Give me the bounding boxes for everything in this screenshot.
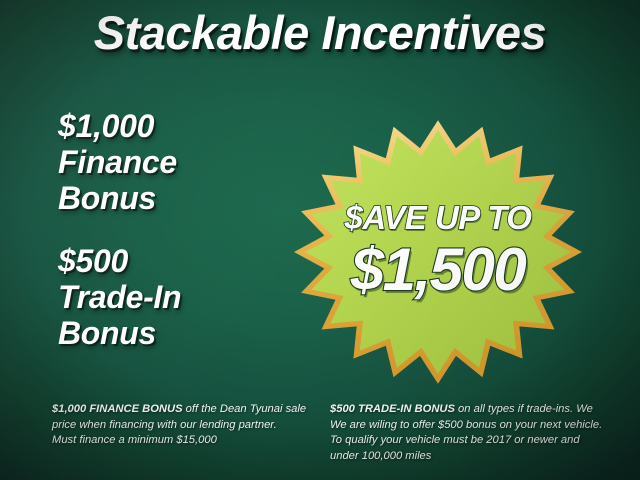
savings-badge: $AVE UP TO $1,500 — [292, 118, 584, 386]
offer-trade-in: $500 Trade-In Bonus — [58, 243, 308, 351]
fine-print-trade-in-line-4: under 100,000 miles — [330, 449, 604, 465]
fine-print-trade-in: $500 TRADE-IN BONUS on all types if trad… — [330, 402, 604, 464]
fine-print-finance-line-2: price when financing with our lending pa… — [52, 418, 308, 434]
offer-list: $1,000 Finance Bonus $500 Trade-In Bonus — [58, 108, 308, 351]
fine-print-trade-in-line-1: on all types if trade-ins. We — [455, 403, 593, 415]
fine-print-finance-line-1: off the Dean Tyunai sale — [183, 403, 307, 415]
fine-print-trade-in-line-2: We are wiling to offer $500 bonus on you… — [330, 418, 604, 434]
offer-trade-in-line2: Trade-In — [58, 279, 308, 315]
offer-finance: $1,000 Finance Bonus — [58, 108, 308, 216]
fine-print-trade-in-line-3: To qualify your vehicle must be 2017 or … — [330, 433, 604, 449]
offer-finance-line2: Finance — [58, 144, 308, 180]
offer-trade-in-amount: $500 — [58, 243, 308, 279]
fine-print: $1,000 FINANCE BONUS off the Dean Tyunai… — [52, 402, 604, 464]
fine-print-finance: $1,000 FINANCE BONUS off the Dean Tyunai… — [52, 402, 308, 464]
starburst-icon — [292, 118, 584, 386]
page-title: Stackable Incentives — [0, 4, 640, 62]
fine-print-trade-in-lead: $500 TRADE-IN BONUS — [330, 403, 455, 415]
offer-trade-in-line3: Bonus — [58, 315, 308, 351]
fine-print-finance-lead: $1,000 FINANCE BONUS — [52, 403, 183, 415]
offer-finance-amount: $1,000 — [58, 108, 308, 144]
promo-poster: Stackable Incentives $1,000 Finance Bonu… — [0, 0, 640, 480]
offer-finance-line3: Bonus — [58, 180, 308, 216]
fine-print-finance-line-3: Must finance a minimum $15,000 — [52, 433, 308, 449]
